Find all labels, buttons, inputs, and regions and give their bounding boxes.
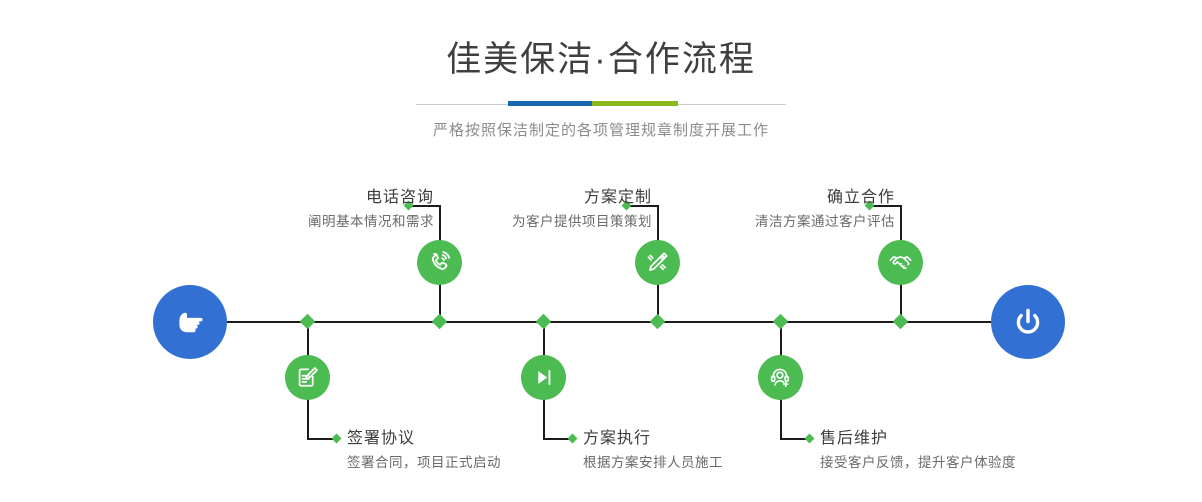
process-flow-infographic: 佳美保洁·合作流程 严格按照保洁制定的各项管理规章制度开展工作 [0, 0, 1202, 502]
axis-diamond-step-6 [773, 314, 789, 330]
connector-endpoint-diamond-step-2 [332, 434, 342, 444]
axis-diamond-step-2 [300, 314, 316, 330]
phone-call-icon [426, 249, 453, 276]
step-desc-4: 根据方案安排人员施工 [583, 454, 723, 472]
timeline-start-node[interactable] [153, 285, 227, 359]
step-node-5[interactable] [878, 240, 923, 285]
step-label-3: 方案定制 为客户提供项目策策划 [512, 187, 652, 231]
step-label-2: 签署协议 签署合同，项目正式启动 [347, 428, 501, 472]
pointing-hand-icon [170, 302, 210, 342]
step-title-5: 确立合作 [755, 187, 895, 209]
step-desc-1: 阐明基本情况和需求 [308, 213, 434, 231]
step-node-4[interactable] [521, 355, 566, 400]
pen-ruler-icon [644, 249, 671, 276]
connector-endpoint-diamond-step-4 [568, 434, 578, 444]
step-desc-2: 签署合同，项目正式启动 [347, 454, 501, 472]
step-desc-3: 为客户提供项目策策划 [512, 213, 652, 231]
timeline-end-node[interactable] [991, 285, 1065, 359]
step-desc-6: 接受客户反馈，提升客户体验度 [820, 454, 1016, 472]
axis-diamond-step-4 [536, 314, 552, 330]
step-node-3[interactable] [635, 240, 680, 285]
handshake-icon [887, 249, 914, 276]
step-label-1: 电话咨询 阐明基本情况和需求 [308, 187, 434, 231]
play-execute-icon [530, 364, 557, 391]
power-icon [1008, 302, 1048, 342]
step-label-6: 售后维护 接受客户反馈，提升客户体验度 [820, 428, 1016, 472]
step-label-5: 确立合作 清洁方案通过客户评估 [755, 187, 895, 231]
step-label-4: 方案执行 根据方案安排人员施工 [583, 428, 723, 472]
document-edit-icon [294, 364, 321, 391]
step-title-4: 方案执行 [583, 428, 723, 450]
step-desc-5: 清洁方案通过客户评估 [755, 213, 895, 231]
step-title-3: 方案定制 [512, 187, 652, 209]
timeline: 电话咨询 阐明基本情况和需求 签署协议 [0, 0, 1202, 502]
support-agent-icon [767, 364, 794, 391]
step-title-2: 签署协议 [347, 428, 501, 450]
step-title-6: 售后维护 [820, 428, 1016, 450]
connector-endpoint-diamond-step-6 [805, 434, 815, 444]
step-node-6[interactable] [758, 355, 803, 400]
axis-diamond-step-5 [893, 314, 909, 330]
axis-diamond-step-3 [650, 314, 666, 330]
axis-diamond-step-1 [432, 314, 448, 330]
step-node-1[interactable] [417, 240, 462, 285]
step-title-1: 电话咨询 [308, 187, 434, 209]
step-node-2[interactable] [285, 355, 330, 400]
